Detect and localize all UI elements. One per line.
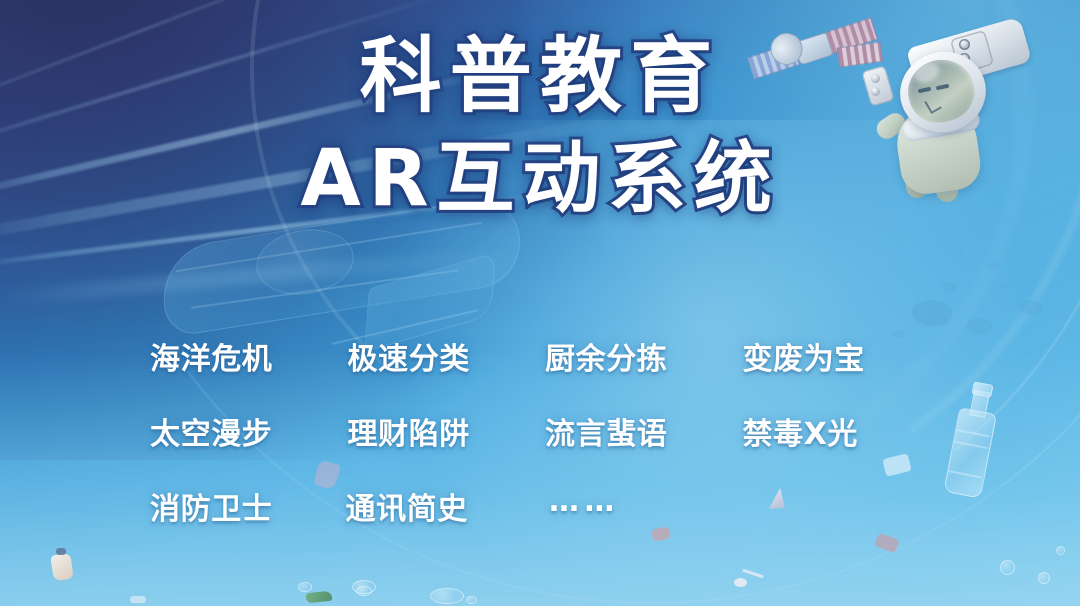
menu-item-more-ellipsis[interactable]: …… xyxy=(541,484,745,528)
ar-education-poster: 科普教育 AR互动系统 海洋危机极速分类厨余分拣变废为宝太空漫步理财陷阱流言蜚语… xyxy=(0,0,1080,606)
menu-item[interactable]: 流言蜚语 xyxy=(545,409,743,453)
module-menu-grid: 海洋危机极速分类厨余分拣变废为宝太空漫步理财陷阱流言蜚语禁毒X光消防卫士通讯简史… xyxy=(150,334,940,528)
menu-item[interactable]: 消防卫士 xyxy=(150,484,346,528)
astronaut-mascot xyxy=(858,22,1054,198)
menu-item[interactable]: 禁毒X光 xyxy=(743,409,941,453)
menu-item[interactable]: 厨余分拣 xyxy=(545,334,743,378)
menu-item[interactable]: 太空漫步 xyxy=(150,409,348,453)
menu-item[interactable]: 海洋危机 xyxy=(150,334,348,378)
side-module xyxy=(862,65,895,106)
menu-item[interactable]: 通讯简史 xyxy=(346,484,542,528)
menu-row: 海洋危机极速分类厨余分拣变废为宝 xyxy=(150,334,940,378)
menu-item[interactable]: 理财陷阱 xyxy=(348,409,546,453)
menu-row: 太空漫步理财陷阱流言蜚语禁毒X光 xyxy=(150,409,940,453)
menu-row: 消防卫士通讯简史…… xyxy=(150,484,940,528)
menu-item[interactable]: 极速分类 xyxy=(348,334,546,378)
menu-item[interactable]: 变废为宝 xyxy=(743,334,941,378)
